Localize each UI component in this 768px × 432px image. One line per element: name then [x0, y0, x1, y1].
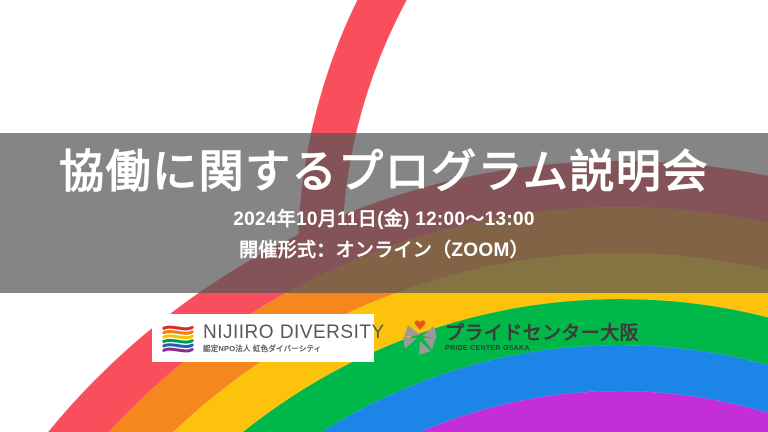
nijiiro-diversity-logo: NIJIIRO DIVERSITY 認定NPO法人 虹色ダイバーシティ [152, 314, 374, 362]
rainbow-stripe-blue [88, 368, 768, 432]
nijiiro-wordmark: NIJIIRO DIVERSITY 認定NPO法人 虹色ダイバーシティ [203, 323, 385, 353]
headline-text-block: 協働に関するプログラム説明会 2024年10月11日(金) 12:00〜13:0… [0, 133, 768, 293]
nijiiro-ribbon-icon [160, 323, 196, 353]
event-poster: 協働に関するプログラム説明会 2024年10月11日(金) 12:00〜13:0… [0, 0, 768, 432]
logo-row: NIJIIRO DIVERSITY 認定NPO法人 虹色ダイバーシティ [0, 314, 768, 366]
pride-center-osaka-logo: プライドセンター大阪 PRIDE CENTER OSAKA [400, 316, 639, 360]
event-date-line: 2024年10月11日(金) 12:00〜13:00 [233, 208, 534, 232]
pride-subtitle: PRIDE CENTER OSAKA [445, 345, 639, 353]
rainbow-stripe-magenta [134, 414, 768, 432]
pride-pinwheel-icon [400, 318, 440, 358]
pride-wordmark: プライドセンター大阪 PRIDE CENTER OSAKA [445, 323, 639, 353]
nijiiro-name: NIJIIRO DIVERSITY [203, 323, 385, 343]
pride-name: プライドセンター大阪 [445, 323, 639, 344]
page-title: 協働に関するプログラム説明会 [59, 146, 709, 198]
nijiiro-subtitle: 認定NPO法人 虹色ダイバーシティ [203, 344, 385, 353]
event-format-line: 開催形式：オンライン（ZOOM） [239, 239, 529, 263]
